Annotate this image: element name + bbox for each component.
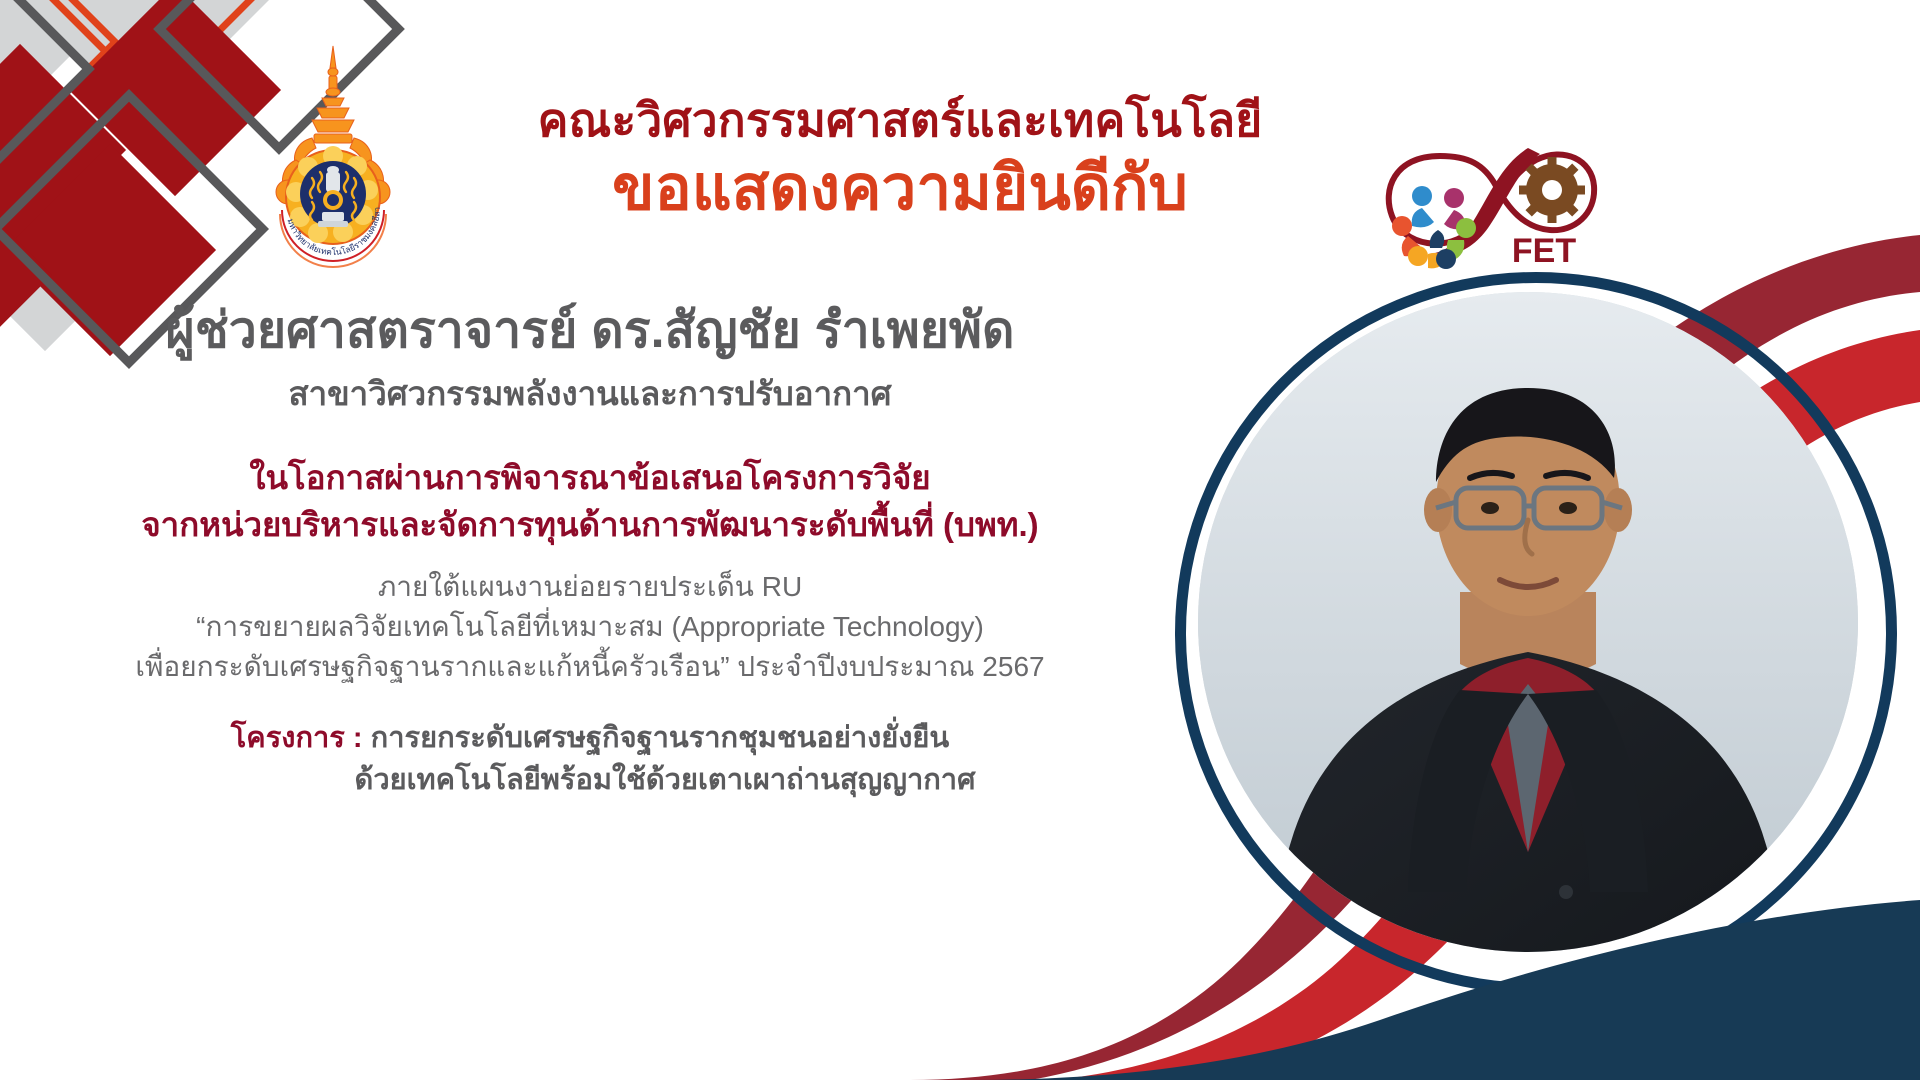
project-label: โครงการ : xyxy=(231,722,363,754)
project-line-1: การยกระดับเศรษฐกิจฐานรากชุมชนอย่างยั่งยื… xyxy=(371,722,950,754)
project-line-2: ด้วยเทคโนโลยีพร้อมใช้ด้วยเตาเผาถ่านสุญญา… xyxy=(355,764,976,796)
honoree-portrait-photo xyxy=(1198,292,1858,952)
navy-base-wedge xyxy=(910,890,1920,1080)
rmuti-university-emblem: มหาวิทยาลัยเทคโนโลยีราชมงคลอีสาน xyxy=(268,42,398,272)
congratulations-banner: มหาวิทยาลัยเทคโนโลยีราชมงคลอีสาน คณะวิศว… xyxy=(0,0,1920,1080)
portrait-composition xyxy=(910,0,1920,1080)
